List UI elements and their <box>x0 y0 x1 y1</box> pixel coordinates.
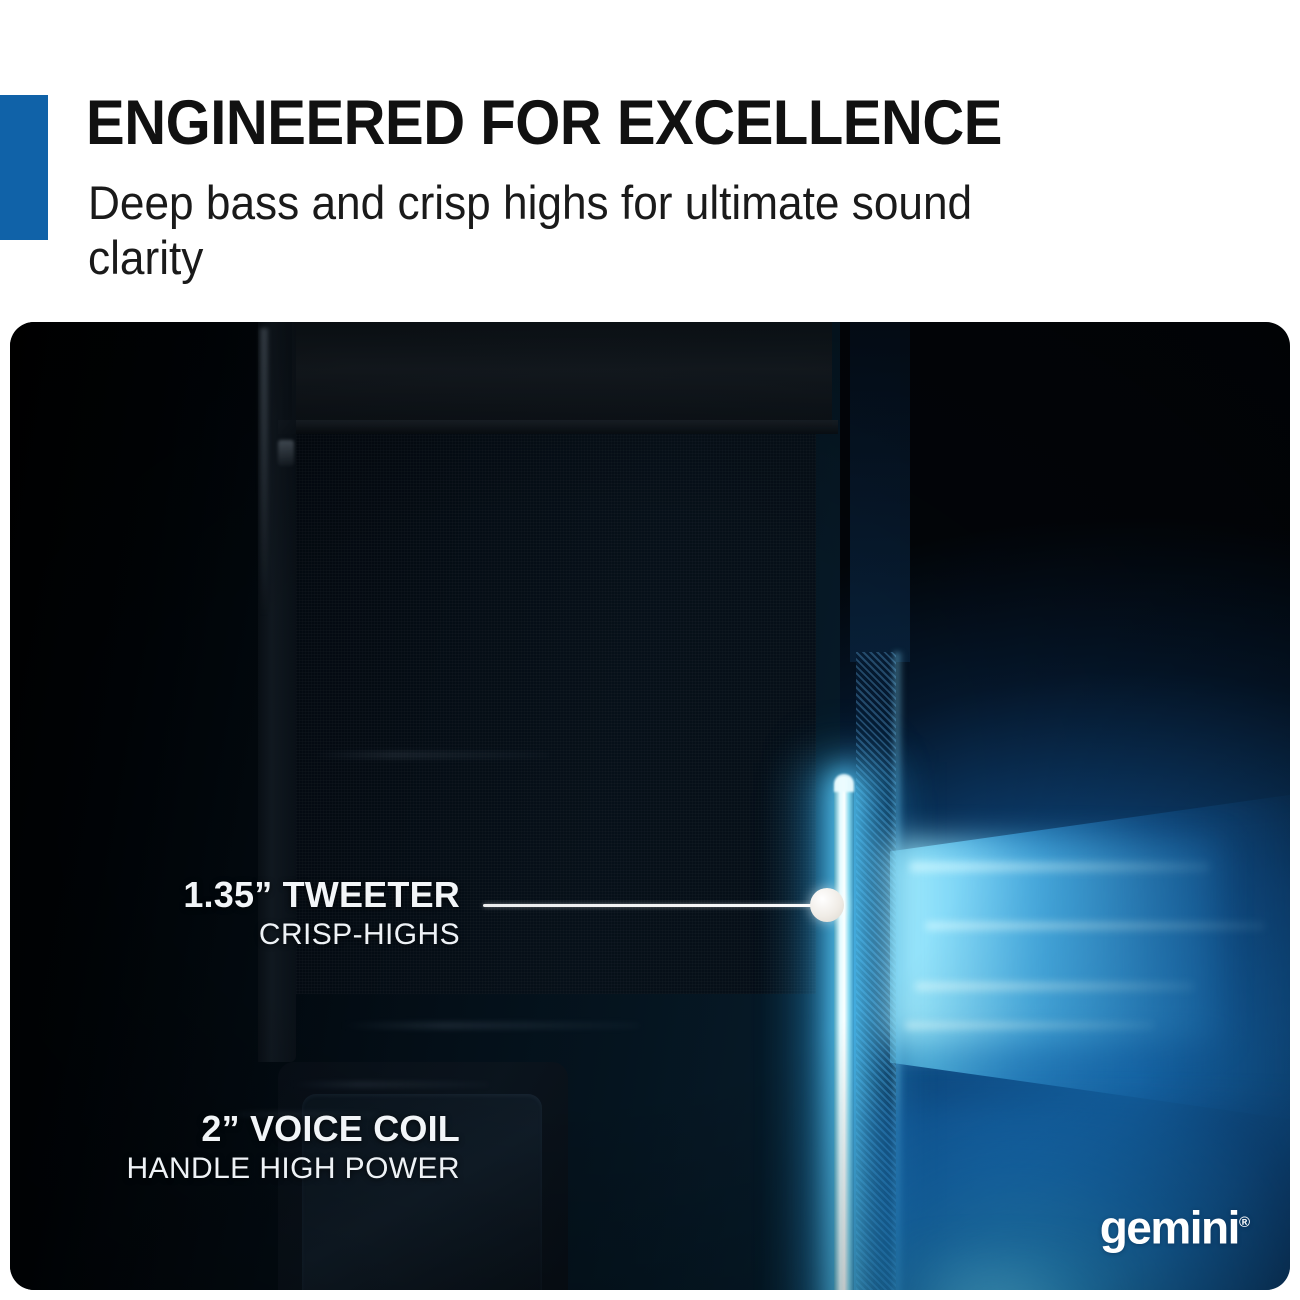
callout-voice-coil-title: 2” VOICE COIL <box>10 1108 460 1150</box>
lower-glow-highlight <box>915 1257 1105 1290</box>
callout-tweeter: 1.35” TWEETER CRISP-HIGHS <box>10 874 460 954</box>
light-beam-core <box>890 842 1220 1042</box>
led-strip <box>834 777 854 1290</box>
brand-name: gemini <box>1100 1201 1239 1253</box>
callout-tweeter-subtitle: CRISP-HIGHS <box>10 916 460 954</box>
callout-tweeter-title: 1.35” TWEETER <box>10 874 460 916</box>
beam-streak-1 <box>910 862 1210 872</box>
registered-trademark-icon: ® <box>1239 1214 1250 1231</box>
accent-bar <box>0 95 48 240</box>
leader-dot-tweeter <box>810 888 844 922</box>
product-photo-panel: 1.35” TWEETER CRISP-HIGHS 2” VOICE COIL … <box>10 322 1290 1290</box>
cabinet-sheen-2 <box>340 1022 640 1029</box>
footer-band <box>0 1290 1300 1300</box>
leader-line-tweeter <box>483 904 813 907</box>
cabinet-sheen-3 <box>290 1082 490 1087</box>
brand-logo: gemini® <box>1100 1200 1250 1250</box>
cabinet-right-face <box>850 322 910 662</box>
beam-streak-4 <box>905 1022 1155 1029</box>
page-title: ENGINEERED FOR EXCELLENCE <box>86 92 1002 154</box>
speaker-cabinet-top <box>292 322 832 427</box>
rail-screw <box>278 440 294 466</box>
callout-voice-coil: 2” VOICE COIL HANDLE HIGH POWER <box>10 1108 460 1188</box>
callout-voice-coil-subtitle: HANDLE HIGH POWER <box>10 1150 460 1188</box>
page-subtitle: Deep bass and crisp highs for ultimate s… <box>88 175 1075 285</box>
speaker-cabinet-top-edge <box>278 420 838 434</box>
rail-highlight <box>260 328 268 618</box>
beam-streak-2 <box>925 922 1265 930</box>
cabinet-sheen-1 <box>310 752 550 758</box>
beam-streak-3 <box>915 982 1195 991</box>
header-section: ENGINEERED FOR EXCELLENCE Deep bass and … <box>0 0 1300 322</box>
led-strip-cap <box>834 774 854 792</box>
